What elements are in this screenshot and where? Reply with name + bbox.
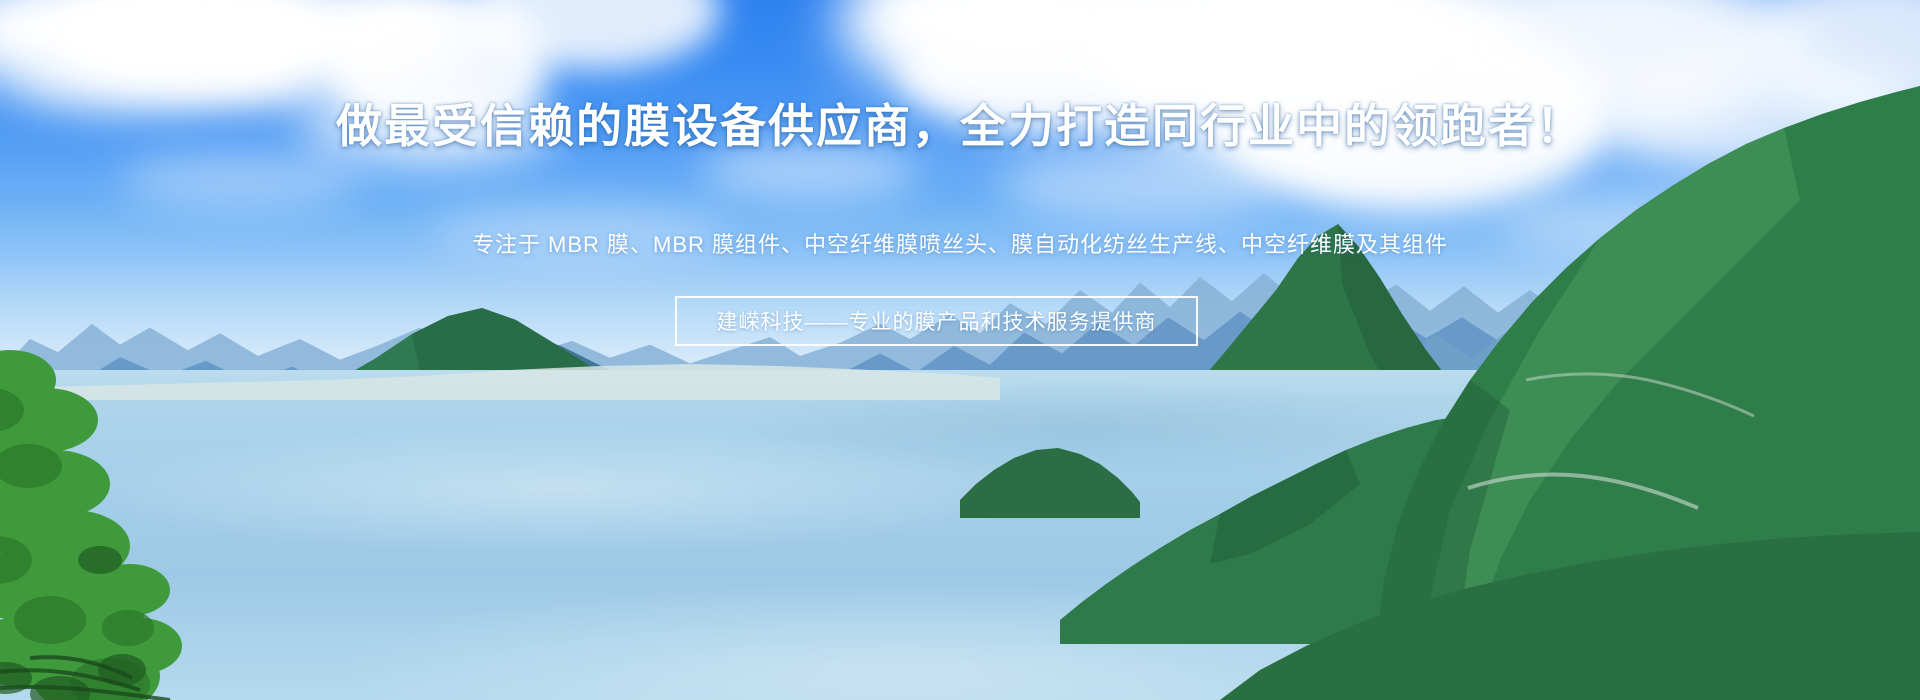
banner-headline: 做最受信赖的膜设备供应商，全力打造同行业中的领跑者！: [0, 98, 1920, 154]
banner-subheadline: 专注于 MBR 膜、MBR 膜组件、中空纤维膜喷丝头、膜自动化纺丝生产线、中空纤…: [0, 228, 1920, 262]
banner-tagline-text: 建嵘科技——专业的膜产品和技术服务提供商: [717, 306, 1157, 336]
hero-banner: 做最受信赖的膜设备供应商，全力打造同行业中的领跑者！ 专注于 MBR 膜、MBR…: [0, 0, 1920, 700]
banner-tagline-box: 建嵘科技——专业的膜产品和技术服务提供商: [675, 296, 1198, 346]
banner-copy: 做最受信赖的膜设备供应商，全力打造同行业中的领跑者！ 专注于 MBR 膜、MBR…: [0, 0, 1920, 700]
